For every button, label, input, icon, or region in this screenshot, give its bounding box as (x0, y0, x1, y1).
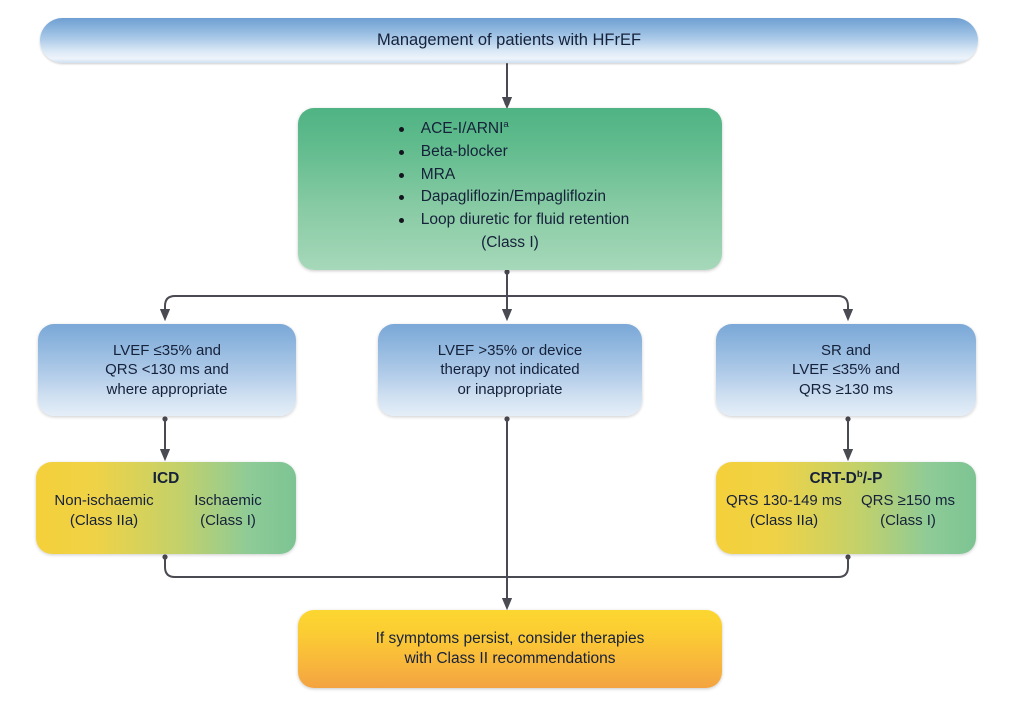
list-item: ACE-I/ARNIa (391, 118, 630, 141)
device-box-icd: ICD Non-ischaemic (Class IIa) Ischaemic … (36, 462, 296, 554)
criteria-box-left: LVEF ≤35% and QRS <130 ms and where appr… (38, 324, 296, 416)
therapy-item-label: Loop diuretic for fluid retention (421, 211, 630, 228)
criteria-box-center: LVEF >35% or device therapy not indicate… (378, 324, 642, 416)
device-column-class: (Class IIa) (42, 511, 166, 531)
criteria-line: LVEF ≤35% and (113, 341, 221, 361)
banner-title-box: Management of patients with HFrEF (40, 18, 978, 63)
edge-dot-blue-left (162, 416, 167, 421)
therapy-class-note: (Class I) (481, 233, 539, 253)
outcome-box: If symptoms persist, consider therapies … (298, 610, 722, 688)
edge-dot-blue-right (845, 416, 850, 421)
edge-icd-to-merge (165, 556, 507, 577)
therapy-item-label: Dapagliflozin/Empagliflozin (421, 188, 606, 205)
edge-split-bar-right (507, 296, 848, 315)
edge-dot-crt (845, 554, 850, 559)
device-column-class: (Class I) (166, 511, 290, 531)
edge-split-bar-left (165, 296, 507, 315)
criteria-line: LVEF >35% or device (438, 341, 582, 361)
criteria-box-right: SR and LVEF ≤35% and QRS ≥130 ms (716, 324, 976, 416)
device-column-ischaemic: Ischaemic (Class I) (166, 491, 290, 530)
criteria-line: therapy not indicated (440, 360, 579, 380)
device-column-label: QRS 130-149 ms (726, 492, 842, 509)
device-column-label: Ischaemic (194, 492, 262, 509)
list-item: Loop diuretic for fluid retention (391, 209, 630, 232)
device-title-icd: ICD (153, 469, 180, 489)
list-item: MRA (391, 164, 630, 187)
criteria-line: SR and (821, 341, 871, 361)
criteria-line: where appropriate (107, 380, 228, 400)
criteria-line: QRS ≥130 ms (799, 380, 893, 400)
device-column-qrs-130-149: QRS 130-149 ms (Class IIa) (722, 491, 846, 530)
criteria-line: or inappropriate (457, 380, 562, 400)
device-column-label: QRS ≥150 ms (861, 492, 955, 509)
device-column-qrs-150: QRS ≥150 ms (Class I) (846, 491, 970, 530)
criteria-line: QRS <130 ms and (105, 360, 229, 380)
device-box-crt: CRT-Db/-P QRS 130-149 ms (Class IIa) QRS… (716, 462, 976, 554)
banner-title-text: Management of patients with HFrEF (377, 30, 641, 51)
therapy-item-label: ACE-I/ARNI (421, 120, 504, 137)
device-columns: Non-ischaemic (Class IIa) Ischaemic (Cla… (36, 491, 296, 530)
therapy-item-label: MRA (421, 166, 455, 183)
flowchart-canvas: Management of patients with HFrEF ACE-I/… (0, 0, 1015, 701)
outcome-line: with Class II recommendations (404, 649, 615, 669)
device-columns: QRS 130-149 ms (Class IIa) QRS ≥150 ms (… (716, 491, 976, 530)
edge-dot-therapy-top (504, 100, 509, 105)
edge-dot-blue-center (504, 416, 509, 421)
edge-dot-icd (162, 554, 167, 559)
device-title-crt: CRT-Db/-P (809, 469, 882, 489)
edge-crt-to-merge (507, 556, 848, 577)
criteria-line: LVEF ≤35% and (792, 360, 900, 380)
device-title-suffix: /-P (863, 470, 883, 487)
device-column-non-ischaemic: Non-ischaemic (Class IIa) (42, 491, 166, 530)
list-item: Dapagliflozin/Empagliflozin (391, 186, 630, 209)
device-column-class: (Class I) (846, 511, 970, 531)
therapy-item-label: Beta-blocker (421, 143, 508, 160)
list-item: Beta-blocker (391, 141, 630, 164)
outcome-line: If symptoms persist, consider therapies (376, 629, 645, 649)
footnote-marker-a: a (503, 119, 508, 130)
device-title-prefix: CRT-D (809, 470, 856, 487)
therapy-box: ACE-I/ARNIa Beta-blocker MRA Dapaglifloz… (298, 108, 722, 270)
device-column-label: Non-ischaemic (54, 492, 153, 509)
edge-dot-therapy-bottom (504, 269, 509, 274)
therapy-list: ACE-I/ARNIa Beta-blocker MRA Dapaglifloz… (391, 118, 630, 232)
device-column-class: (Class IIa) (722, 511, 846, 531)
